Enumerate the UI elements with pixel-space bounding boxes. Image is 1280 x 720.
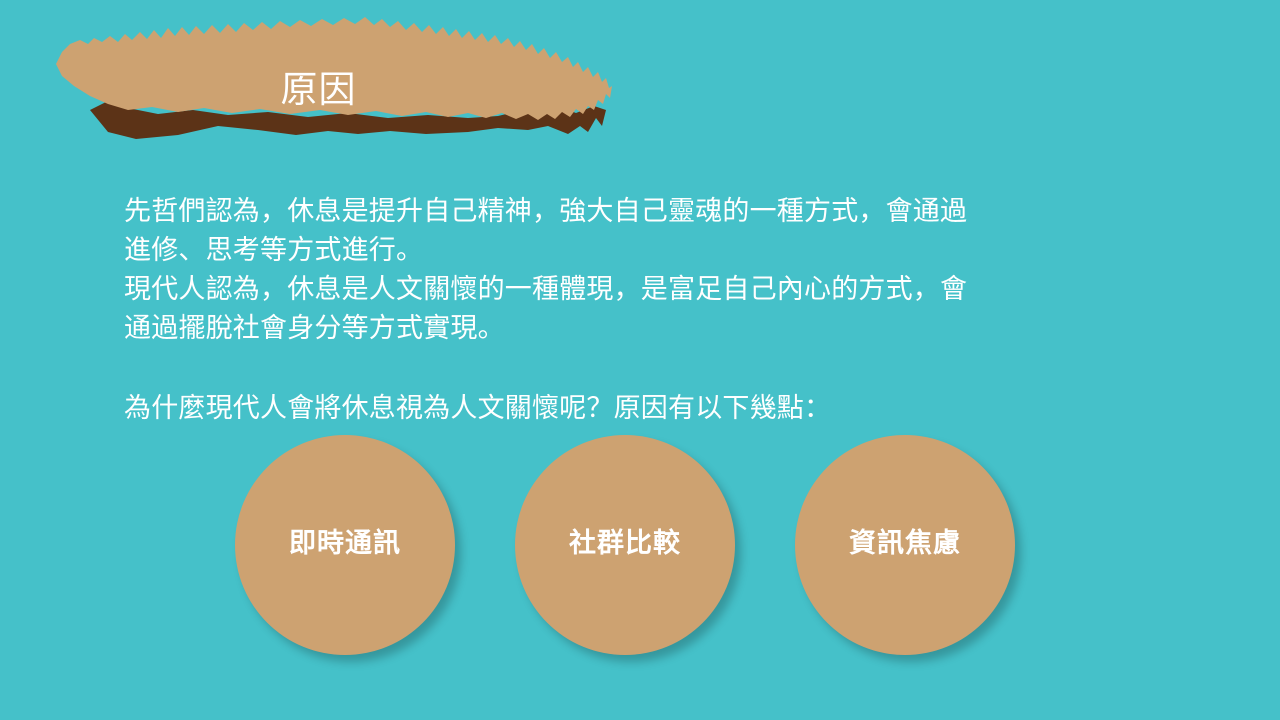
- reason-circle-2-label: 社群比較: [569, 528, 681, 558]
- reason-circles-row: 即時通訊 社群比較 資訊焦慮: [0, 435, 1280, 665]
- paragraph-line-4: 通過擺脫社會身分等方式實現。: [124, 309, 1134, 348]
- reason-circle-1[interactable]: 即時通訊: [235, 435, 455, 655]
- reason-circle-2[interactable]: 社群比較: [515, 435, 735, 655]
- reason-circle-3[interactable]: 資訊焦慮: [795, 435, 1015, 655]
- page-title: 原因: [26, 68, 611, 112]
- body-copy: 先哲們認為，休息是提升自己精神，強大自己靈魂的一種方式，會通過 進修、思考等方式…: [124, 192, 1134, 428]
- slide-canvas: 原因 先哲們認為，休息是提升自己精神，強大自己靈魂的一種方式，會通過 進修、思考…: [0, 0, 1280, 720]
- question-line: 為什麼現代人會將休息視為人文關懷呢？原因有以下幾點：: [124, 389, 1134, 428]
- reason-circle-3-label: 資訊焦慮: [849, 528, 961, 558]
- reason-circle-1-label: 即時通訊: [289, 528, 401, 558]
- paragraph-line-2: 進修、思考等方式進行。: [124, 231, 1134, 270]
- paragraph-line-3: 現代人認為，休息是人文關懷的一種體現，是富足自己內心的方式，會: [124, 270, 1134, 309]
- title-banner: 原因: [28, 14, 613, 142]
- paragraph-line-1: 先哲們認為，休息是提升自己精神，強大自己靈魂的一種方式，會通過: [124, 192, 1134, 231]
